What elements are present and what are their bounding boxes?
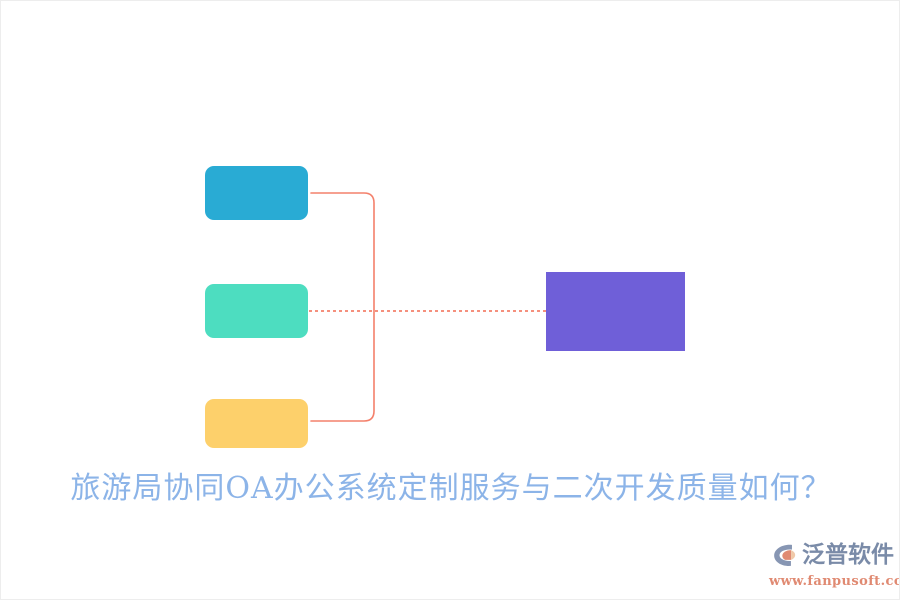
screenshot-canvas: 旅游局协同OA办公系统定制服务与二次开发质量如何？ 泛普软件 www.fanpu… [0, 0, 900, 600]
page-title: 旅游局协同OA办公系统定制服务与二次开发质量如何？ [1, 463, 900, 507]
diagram-node-process-b[interactable] [205, 284, 308, 338]
connector-layer [1, 1, 900, 471]
flow-diagram [1, 1, 900, 471]
brand-url: www.fanpusoft.com [769, 574, 891, 589]
brand-watermark: 泛普软件 www.fanpusoft.com [769, 539, 891, 591]
fanpu-logo-icon [769, 540, 799, 570]
connector-bracket [311, 193, 374, 421]
diagram-node-result[interactable] [546, 272, 685, 351]
diagram-node-process-c[interactable] [205, 399, 308, 448]
diagram-node-process-a[interactable] [205, 166, 308, 220]
brand-name: 泛普软件 [802, 544, 894, 567]
